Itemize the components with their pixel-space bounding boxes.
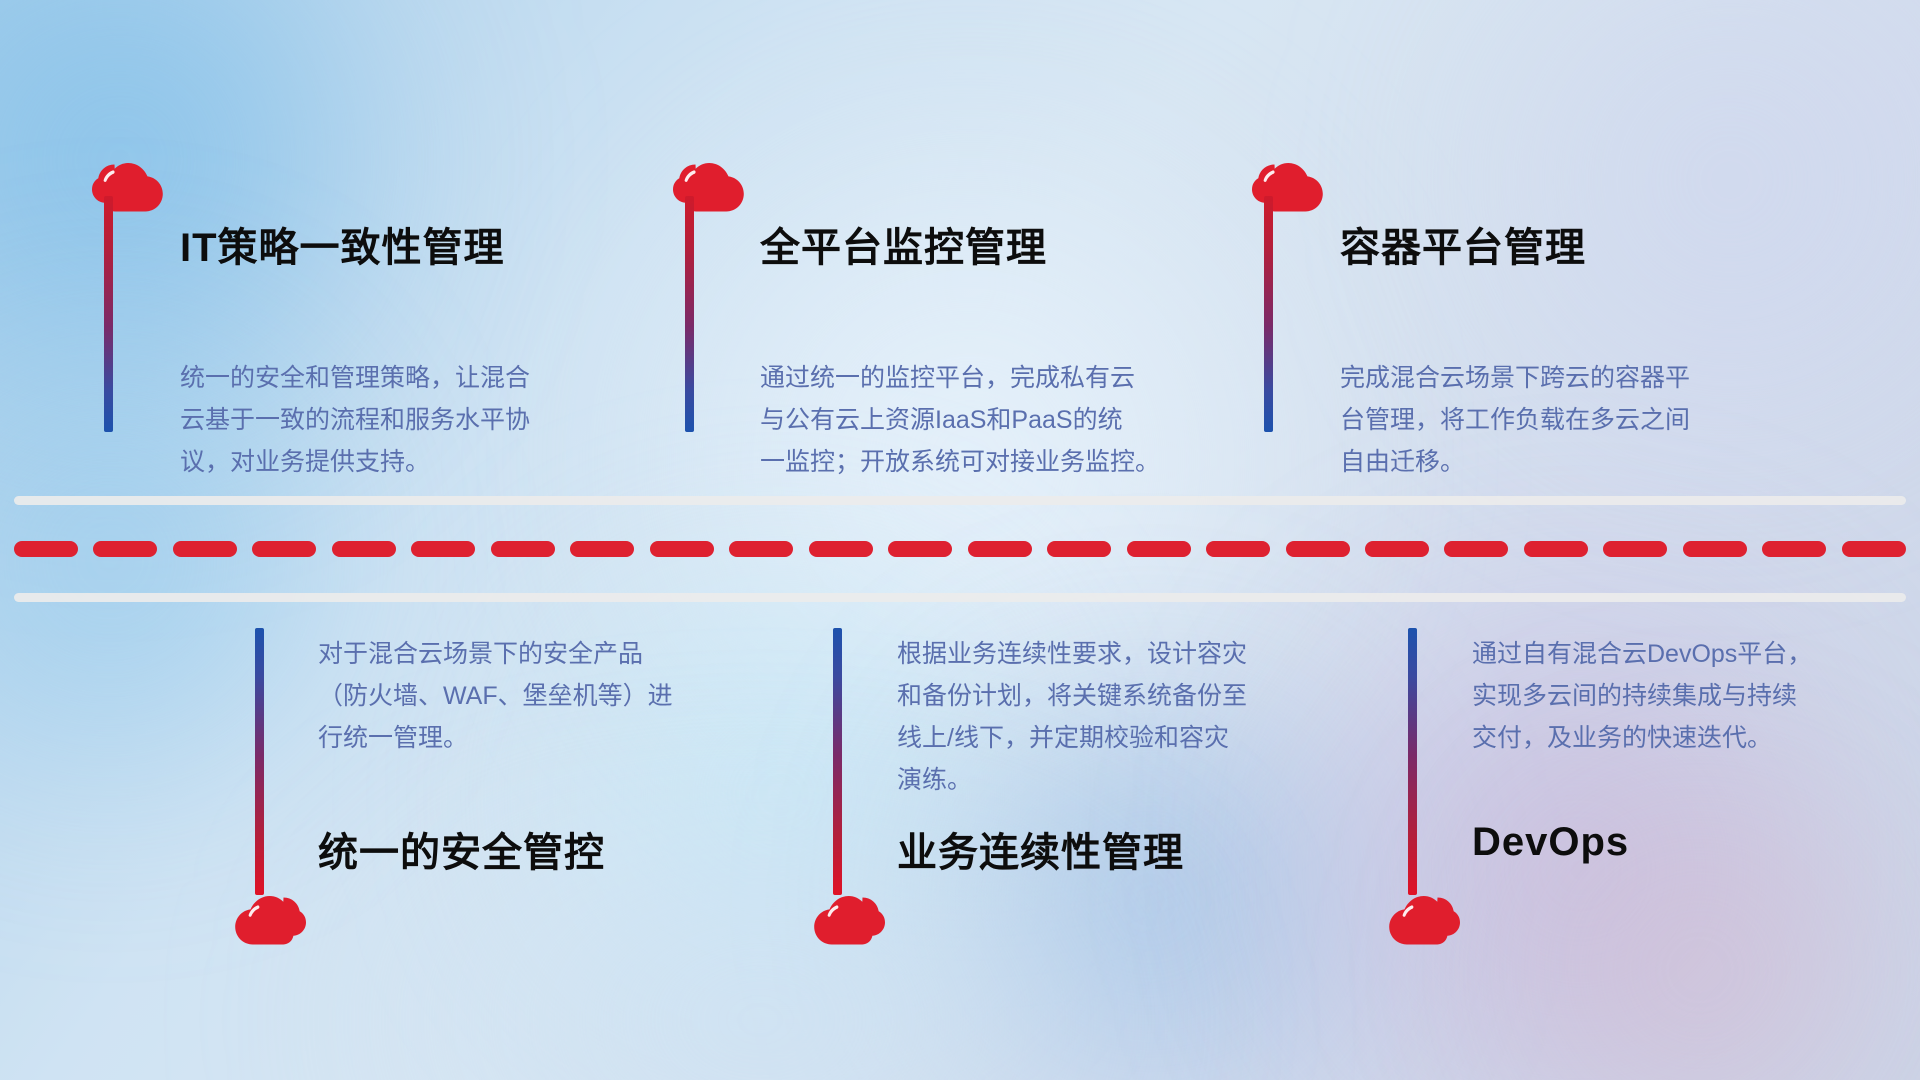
divider-dash <box>570 541 634 557</box>
divider-dash <box>173 541 237 557</box>
divider-dash <box>729 541 793 557</box>
card-title-top-1: IT策略一致性管理 <box>180 215 505 273</box>
cloud-icon-bottom-2 <box>811 893 885 949</box>
stem-top-3 <box>1264 196 1273 432</box>
stem-top-2 <box>685 196 694 432</box>
divider-dash <box>968 541 1032 557</box>
divider-dash <box>252 541 316 557</box>
divider-dash <box>809 541 873 557</box>
divider-dash <box>14 541 78 557</box>
card-title-top-3: 容器平台管理 <box>1340 215 1586 273</box>
divider-dash <box>650 541 714 557</box>
divider-dash <box>332 541 396 557</box>
divider-dash <box>1444 541 1508 557</box>
divider-dash <box>1762 541 1826 557</box>
divider-dash <box>411 541 475 557</box>
divider-dash <box>1127 541 1191 557</box>
card-body-top-2: 通过统一的监控平台，完成私有云 与公有云上资源IaaS和PaaS的统 一监控；开… <box>760 357 1210 483</box>
card-title-bottom-2: 业务连续性管理 <box>897 820 1184 878</box>
card-body-bottom-3: 通过自有混合云DevOps平台， 实现多云间的持续集成与持续 交付，及业务的快速… <box>1472 633 1912 759</box>
cloud-icon-bottom-3 <box>1386 893 1460 949</box>
cloud-icon-bottom-1 <box>232 893 306 949</box>
card-body-top-3: 完成混合云场景下跨云的容器平 台管理，将工作负载在多云之间 自由迁移。 <box>1340 357 1790 483</box>
divider-dash <box>93 541 157 557</box>
stem-top-1 <box>104 196 113 432</box>
divider-dash <box>491 541 555 557</box>
card-title-bottom-1: 统一的安全管控 <box>318 820 605 878</box>
card-body-top-1: 统一的安全和管理策略，让混合 云基于一致的流程和服务水平协 议，对业务提供支持。 <box>180 357 610 483</box>
stem-bottom-3 <box>1408 628 1417 895</box>
divider-dash <box>1286 541 1350 557</box>
divider-dash <box>1206 541 1270 557</box>
divider-dash <box>1842 541 1906 557</box>
card-title-bottom-3: DevOps <box>1472 820 1629 865</box>
stem-bottom-1 <box>255 628 264 895</box>
infographic-canvas: IT策略一致性管理 统一的安全和管理策略，让混合 云基于一致的流程和服务水平协 … <box>0 0 1920 1080</box>
divider-dash <box>1603 541 1667 557</box>
card-body-bottom-2: 根据业务连续性要求，设计容灾 和备份计划，将关键系统备份至 线上/线下，并定期校… <box>897 633 1337 801</box>
divider-dash <box>1524 541 1588 557</box>
card-body-bottom-1: 对于混合云场景下的安全产品 （防火墙、WAF、堡垒机等）进 行统一管理。 <box>318 633 758 759</box>
stem-bottom-2 <box>833 628 842 895</box>
divider-dash <box>1047 541 1111 557</box>
divider-dash <box>888 541 952 557</box>
divider-dash <box>1365 541 1429 557</box>
divider-dash <box>1683 541 1747 557</box>
divider-rule-bottom <box>14 593 1906 602</box>
divider-dashed-line <box>14 541 1906 557</box>
card-title-top-2: 全平台监控管理 <box>760 215 1047 273</box>
divider-rule-top <box>14 496 1906 505</box>
